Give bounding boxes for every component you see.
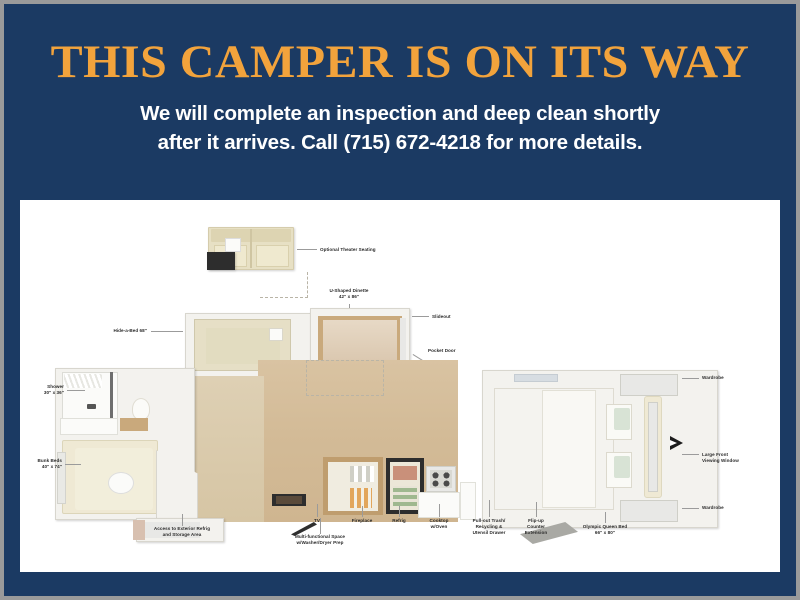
floorplan-card: Optional Theater Seating U-Shaped Dinett… — [20, 200, 780, 572]
lead-pull-out-trash — [489, 500, 490, 517]
bedroom-front-window-strip — [514, 374, 558, 382]
refrigerator-contents — [393, 466, 417, 480]
lead-slideout — [412, 316, 429, 317]
bed-accent-pillow-bottom — [614, 456, 630, 478]
pantry-bottles — [350, 488, 372, 508]
callout-access-exterior-refrig: Access to Exterior Refrig and Storage Ar… — [130, 526, 234, 538]
lead-multi-functional — [320, 518, 321, 534]
bunk-bed-ladder — [108, 472, 134, 494]
callout-olympic-queen-bed: Olympic Queen Bed 66" x 80" — [560, 524, 650, 536]
floorplan-image: Optional Theater Seating U-Shaped Dinett… — [20, 200, 780, 572]
lead-olympic-queen-bed — [605, 512, 606, 523]
lead-fireplace — [362, 506, 363, 517]
bath-cabinet — [120, 418, 148, 431]
callout-multi-functional-space: Multi-functional Space w/Washer/Dryer Pr… — [272, 534, 368, 546]
lead-tv — [317, 504, 318, 517]
page-frame: THIS CAMPER IS ON ITS WAY We will comple… — [4, 4, 796, 596]
theater-seating-cushion-right — [256, 245, 289, 267]
callout-pull-out-trash: Pull-out Trash/ Recycling & Utensil Draw… — [460, 518, 518, 536]
refrigerator-shelves — [393, 486, 417, 506]
page-title: THIS CAMPER IS ON ITS WAY — [4, 38, 796, 87]
vanity-counter — [60, 418, 118, 435]
theater-seating-tv — [207, 252, 235, 270]
bed-accent-pillow-top — [614, 408, 630, 430]
shower-head — [87, 404, 96, 409]
callout-wardrobe-top: Wardrobe — [702, 375, 724, 381]
lead-theater-seating — [297, 249, 317, 250]
pantry-shelf-items — [350, 466, 374, 482]
front-window-arrow-notch-icon — [670, 440, 677, 446]
callout-tv: TV — [304, 518, 330, 524]
callout-u-shaped-dinette: U-Shaped Dinette 42" x 86" — [304, 288, 394, 300]
callout-flip-up-counter-extension: Flip-up Counter Extension — [512, 518, 560, 536]
flip-up-counter-extension-panel — [460, 482, 476, 520]
lead-bunk-beds — [65, 464, 81, 465]
banner-subtitle: We will complete an inspection and deep … — [4, 99, 796, 157]
cooktop-burners — [430, 470, 452, 488]
lead-flip-up-counter — [536, 502, 537, 517]
queen-bed-comforter — [542, 390, 596, 508]
subtitle-line-1: We will complete an inspection and deep … — [140, 102, 660, 125]
front-viewing-window — [648, 402, 658, 492]
callout-wardrobe-bottom: Wardrobe — [702, 505, 724, 511]
fireplace-glow — [276, 496, 302, 504]
lead-hide-a-bed — [151, 331, 183, 332]
toilet — [132, 398, 150, 420]
subtitle-line-2: after it arrives. Call (715) 672-4218 fo… — [4, 128, 796, 157]
callout-optional-theater-seating: Optional Theater Seating — [320, 247, 376, 253]
lead-shower — [67, 390, 85, 391]
dashed-slideout-footprint — [306, 360, 384, 396]
callout-pocket-door: Pocket Door — [428, 348, 456, 354]
lead-wardrobe-bottom — [682, 508, 699, 509]
callout-cooktop-with-oven: Cooktop w/Oven — [418, 518, 460, 530]
callout-fireplace: Fireplace — [342, 518, 382, 524]
theater-seating-table — [225, 238, 241, 252]
banner-header: THIS CAMPER IS ON ITS WAY We will comple… — [4, 4, 796, 200]
callout-slideout: Slideout — [432, 314, 451, 320]
theater-seating-divider — [250, 229, 252, 268]
lead-refrig — [399, 506, 400, 517]
callout-large-front-viewing-window: Large Front Viewing Window — [702, 452, 739, 464]
lead-front-window — [682, 454, 699, 455]
dinette-pillow — [269, 328, 283, 341]
lead-wardrobe-top — [682, 378, 699, 379]
lead-exterior-refrig — [182, 514, 183, 526]
callout-refrig: Refrig — [382, 518, 416, 524]
dashed-connector-theater — [260, 272, 308, 298]
wardrobe-top-unit — [620, 374, 678, 396]
callout-bunk-beds: Bunk Beds 40" x 74" — [20, 458, 62, 470]
wardrobe-bottom-unit — [620, 500, 678, 522]
lead-cooktop — [439, 504, 440, 517]
front-floor — [188, 376, 264, 522]
callout-shower: Shower 30" x 36" — [20, 384, 64, 396]
shower-ridges — [64, 374, 102, 388]
callout-hide-a-bed: Hide-a-Bed 68" — [82, 328, 147, 334]
